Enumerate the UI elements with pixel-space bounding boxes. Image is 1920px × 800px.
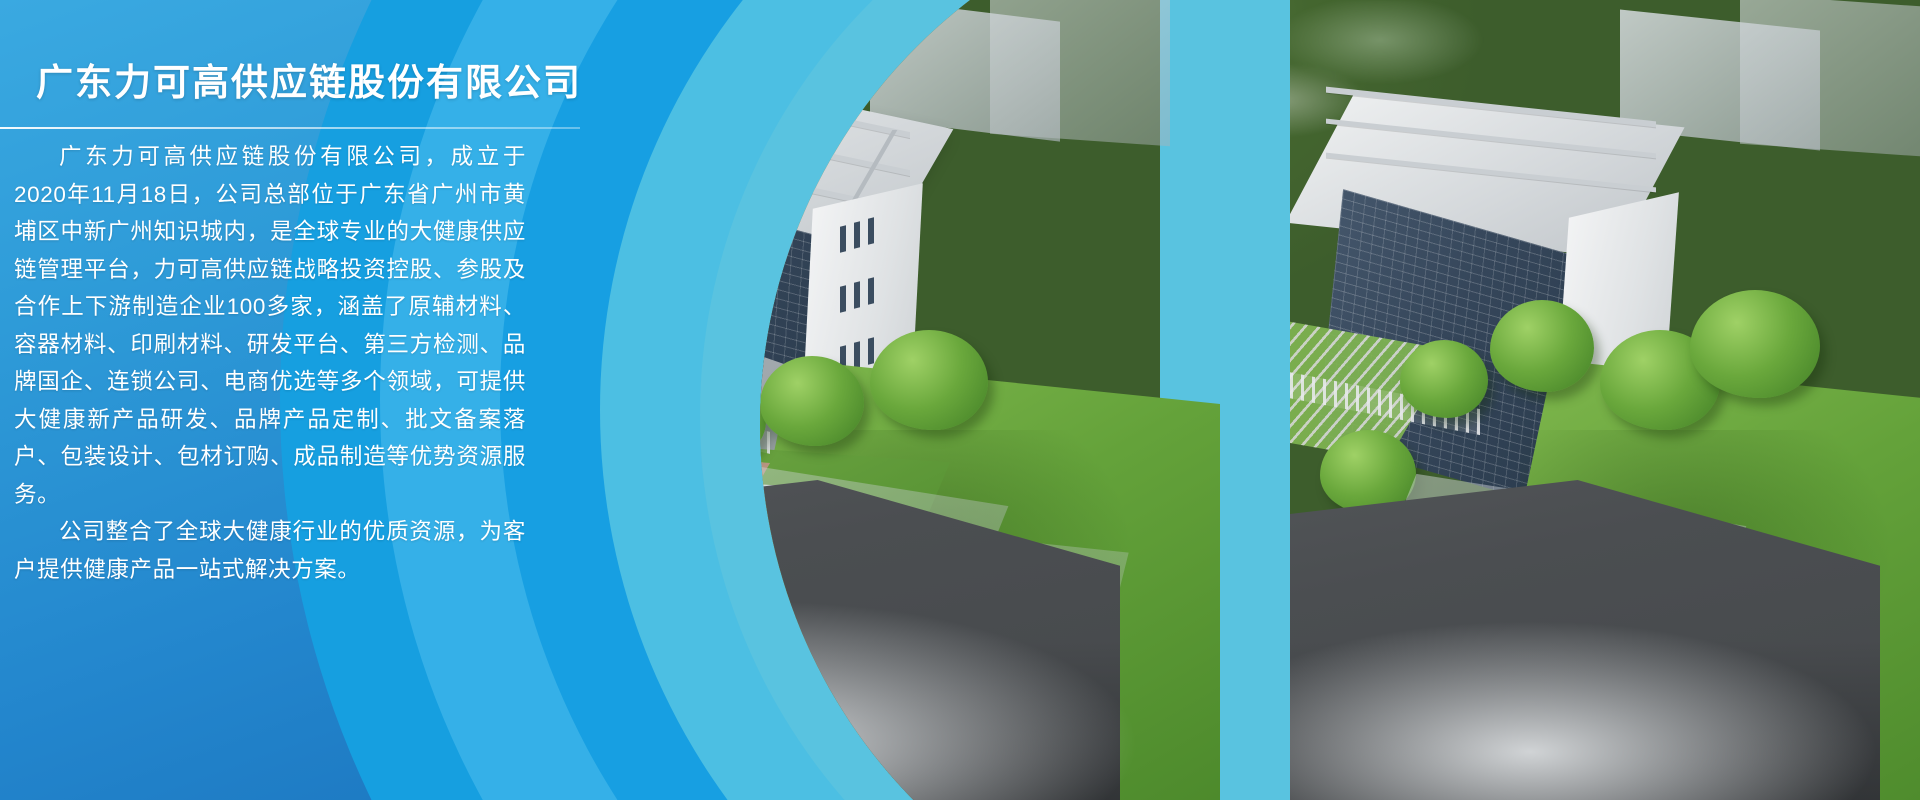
background-building-block-2 bbox=[1740, 0, 1920, 156]
title-divider bbox=[0, 127, 580, 129]
slit-window bbox=[854, 281, 860, 308]
scene-main bbox=[760, 0, 1160, 800]
slit-window bbox=[868, 277, 874, 304]
text-column: 广东力可高供应链股份有限公司 广东力可高供应链股份有限公司，成立于2020年11… bbox=[0, 0, 620, 800]
slit-window bbox=[840, 225, 846, 252]
description-paragraph-2: 公司整合了全球大健康行业的优质资源，为客户提供健康产品一站式解决方案。 bbox=[14, 513, 526, 588]
slit-window bbox=[854, 341, 860, 368]
background-building-block-2 bbox=[990, 0, 1170, 146]
tree bbox=[870, 330, 988, 430]
description-paragraph-1: 广东力可高供应链股份有限公司，成立于2020年11月18日，公司总部位于广东省广… bbox=[14, 138, 526, 513]
tree bbox=[760, 356, 864, 446]
atmospheric-haze bbox=[760, 600, 1140, 800]
company-description: 广东力可高供应链股份有限公司，成立于2020年11月18日，公司总部位于广东省广… bbox=[14, 138, 526, 588]
page-title: 广东力可高供应链股份有限公司 bbox=[36, 52, 582, 106]
banner-stage: 广东力可高供应链股份有限公司 广东力可高供应链股份有限公司，成立于2020年11… bbox=[0, 0, 1920, 800]
photo-disc bbox=[760, 0, 1830, 800]
slit-window bbox=[868, 337, 874, 364]
slit-window bbox=[868, 217, 874, 244]
slit-window bbox=[854, 221, 860, 248]
slit-window bbox=[840, 285, 846, 312]
